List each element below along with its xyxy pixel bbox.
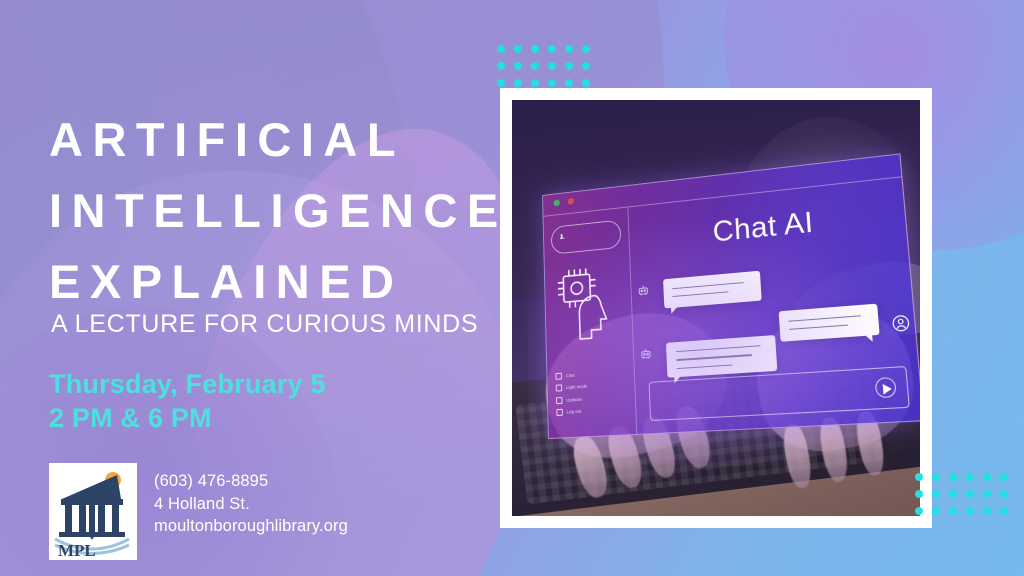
sidebar-item-log-out[interactable]: Log out — [557, 405, 632, 416]
dot-grid-top — [497, 45, 590, 87]
window-dot-green[interactable] — [554, 199, 560, 206]
chat-sidebar-menu: Chat Light mode Updates Log out — [556, 367, 632, 421]
event-time: 2 PM & 6 PM — [49, 401, 326, 435]
laptop-photo: Chat Light mode Updates Log out — [512, 100, 920, 516]
window-dot-red[interactable] — [568, 197, 574, 204]
chat-sidebar: Chat Light mode Updates Log out — [544, 207, 638, 438]
photo-frame: Chat Light mode Updates Log out — [500, 88, 932, 528]
chat-title: Chat AI — [630, 196, 907, 257]
subtitle: A LECTURE FOR CURIOUS MINDS — [51, 310, 478, 339]
sidebar-label-light-mode: Light mode — [566, 384, 587, 390]
sidebar-item-updates[interactable]: Updates — [557, 392, 632, 403]
new-chat-button[interactable] — [552, 219, 622, 254]
send-button[interactable] — [875, 377, 897, 398]
logo-abbr: MPL — [58, 541, 96, 560]
footer-block: MPL (603) 476-8895 4 Holland St. moulton… — [49, 463, 348, 560]
logout-icon — [557, 409, 564, 416]
hologram-chat-window: Chat Light mode Updates Log out — [542, 153, 920, 439]
headline-line-3: EXPLAINED — [49, 246, 479, 317]
ai-chip-head-icon — [553, 259, 622, 345]
chat-icon — [556, 372, 563, 379]
updates-icon — [557, 396, 564, 403]
sidebar-item-chat[interactable]: Chat — [556, 367, 631, 379]
headline-line-2: INTELLIGENCE — [49, 175, 479, 246]
event-datetime: Thursday, February 5 2 PM & 6 PM — [49, 367, 326, 435]
contact-address: 4 Holland St. — [154, 493, 348, 516]
bot-avatar-icon-2 — [640, 346, 653, 360]
contact-phone[interactable]: (603) 476-8895 — [154, 470, 348, 493]
roof-shape — [62, 475, 121, 499]
page-title: ARTIFICIAL INTELLIGENCE EXPLAINED — [49, 104, 479, 317]
base-step — [59, 532, 125, 537]
entablature — [61, 499, 123, 505]
poster-canvas: ARTIFICIAL INTELLIGENCE EXPLAINED A LECT… — [0, 0, 1024, 576]
library-logo: MPL — [49, 463, 137, 560]
headline-line-1: ARTIFICIAL — [49, 104, 479, 175]
sidebar-item-light-mode[interactable]: Light mode — [556, 380, 631, 391]
sidebar-label-chat: Chat — [566, 372, 575, 377]
contact-website[interactable]: moultonboroughlibrary.org — [154, 515, 348, 538]
chat-bubble-bot-2 — [666, 335, 778, 378]
text-column: ARTIFICIAL INTELLIGENCE EXPLAINED A LECT… — [0, 0, 500, 576]
sidebar-label-log-out: Log out — [567, 409, 582, 415]
chat-bubble-user-1 — [779, 303, 880, 341]
user-circle-icon — [892, 313, 912, 332]
contact-info: (603) 476-8895 4 Holland St. moultonboro… — [154, 463, 348, 538]
sidebar-label-updates: Updates — [567, 396, 583, 402]
chat-bubble-bot-1 — [663, 271, 762, 309]
event-date: Thursday, February 5 — [49, 367, 326, 401]
dot-grid-bottom — [915, 473, 1008, 515]
chat-main-panel: Chat AI — [629, 177, 920, 433]
bot-avatar-icon-1 — [637, 283, 650, 297]
sun-mode-icon — [556, 384, 563, 391]
logo-artwork: MPL — [49, 463, 137, 560]
